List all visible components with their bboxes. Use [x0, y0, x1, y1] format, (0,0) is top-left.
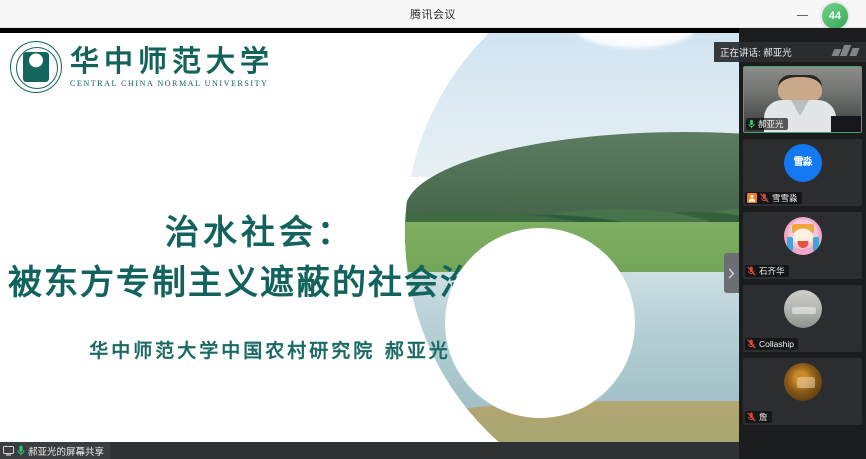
- participant-name: 石齐华: [759, 266, 785, 276]
- participant-tile[interactable]: Collaship: [743, 285, 862, 352]
- microphone-muted-icon: [760, 193, 769, 203]
- participant-tile[interactable]: 雪淼 雪雪淼: [743, 139, 862, 206]
- seal-glyph: [23, 52, 49, 82]
- participant-name-tag: Collaship: [745, 338, 798, 350]
- shared-screen-area[interactable]: 华中师范大学 CENTRAL CHINA NORMAL UNIVERSITY 治…: [0, 28, 739, 459]
- screen-share-status-bar: 郝亚光的屏幕共享: [0, 442, 739, 459]
- participant-panel[interactable]: 郝亚光 雪淼 雪雪淼: [739, 28, 866, 459]
- microphone-icon: [17, 445, 25, 456]
- participant-avatar: [784, 290, 822, 328]
- university-seal-icon: [10, 41, 62, 93]
- window-controls: 44: [796, 0, 838, 28]
- participant-avatar: [784, 217, 822, 255]
- microphone-icon: [748, 119, 755, 129]
- screen-share-status-text: 郝亚光的屏幕共享: [28, 444, 104, 458]
- participant-tile[interactable]: 詹: [743, 358, 862, 425]
- minimize-button[interactable]: [796, 8, 809, 21]
- window-titlebar: 腾讯会议 44: [0, 0, 866, 28]
- avatar-arm-right: [813, 237, 819, 251]
- slide-title-line1: 治水社会：: [0, 205, 520, 254]
- participant-name: 雪雪淼: [772, 193, 798, 203]
- video-background-object: [831, 116, 861, 132]
- presentation-slide: 华中师范大学 CENTRAL CHINA NORMAL UNIVERSITY 治…: [0, 33, 739, 449]
- active-speaker-banner: 正在讲话: 郝亚光: [714, 42, 866, 62]
- participant-name: Collaship: [759, 339, 794, 349]
- participant-tile[interactable]: 石齐华: [743, 212, 862, 279]
- microphone-muted-icon: [747, 339, 756, 349]
- university-logo: 华中师范大学 CENTRAL CHINA NORMAL UNIVERSITY: [10, 41, 274, 93]
- university-name-en: CENTRAL CHINA NORMAL UNIVERSITY: [70, 79, 274, 88]
- avatar-mouth: [797, 241, 808, 248]
- participant-name-tag: 雪雪淼: [745, 192, 802, 204]
- participant-avatar: 雪淼: [784, 144, 822, 182]
- collapse-panel-button[interactable]: [724, 253, 739, 293]
- avatar-initials: 雪淼: [794, 158, 812, 168]
- microphone-muted-icon: [747, 412, 756, 422]
- user-avatar[interactable]: 44: [820, 1, 850, 31]
- chevron-right-icon: [728, 268, 735, 279]
- participant-name-tag: 詹: [745, 411, 772, 423]
- participant-name-tag: 郝亚光: [746, 118, 788, 130]
- university-name-zh: 华中师范大学: [70, 46, 274, 76]
- photo-circle-cutout: [445, 228, 635, 418]
- sound-wave-icon: [833, 45, 858, 56]
- user-avatar-label: 44: [829, 10, 841, 22]
- participant-name: 郝亚光: [758, 119, 784, 129]
- active-speaker-text: 正在讲话: 郝亚光: [720, 45, 792, 59]
- avatar-arm-left: [787, 237, 793, 251]
- raise-hand-icon: [747, 193, 757, 203]
- participant-avatar: [784, 363, 822, 401]
- participant-tile[interactable]: 郝亚光: [743, 66, 862, 133]
- participant-name: 詹: [759, 412, 768, 422]
- window-title: 腾讯会议: [410, 6, 456, 22]
- screen-share-status-pill: 郝亚光的屏幕共享: [0, 442, 110, 459]
- slide-title-line2: 被东方专制主义遮蔽的社会治水: [0, 255, 520, 304]
- participant-name-tag: 石齐华: [745, 265, 789, 277]
- microphone-muted-icon: [747, 266, 756, 276]
- monitor-icon: [3, 446, 14, 456]
